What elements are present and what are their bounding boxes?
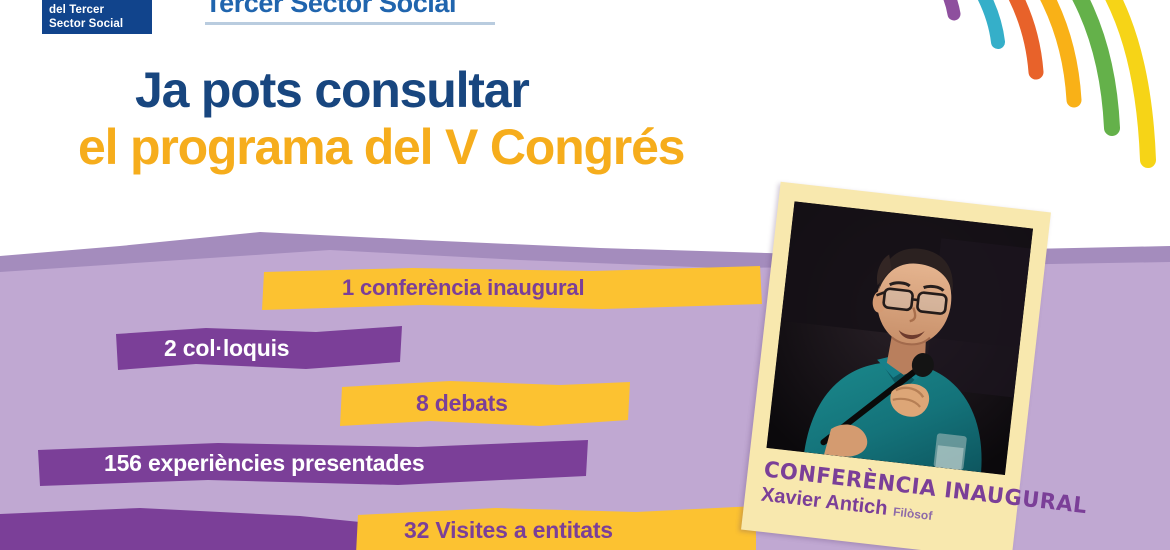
headline-line-2: el programa del V Congrés [0, 118, 900, 176]
stat-bar-colloquis[interactable]: 2 col·loquis [116, 326, 402, 370]
stat-bar-label: 2 col·loquis [164, 335, 289, 362]
speaker-photo-card[interactable]: Conferència inaugural Xavier AntichFilòs… [741, 182, 1051, 550]
stat-bar-label: 32 Visites a entitats [404, 517, 613, 544]
stat-bar-debats[interactable]: 8 debats [340, 380, 630, 426]
stat-bar-label: 1 conferència inaugural [342, 275, 584, 301]
logo-line-2: Sector Social [49, 17, 145, 31]
logo-line-1: del Tercer [49, 3, 145, 17]
poster-canvas: del Tercer Sector Social Tercer Sector S… [0, 0, 1170, 550]
headline-line-1: Ja pots consultar [0, 62, 900, 118]
brand-block: Tercer Sector Social [205, 0, 505, 25]
stat-bar-experiencies[interactable]: 156 experiències presentades [38, 440, 588, 486]
organization-logo: del Tercer Sector Social [42, 0, 152, 34]
headline-block: Ja pots consultar el programa del V Cong… [0, 62, 900, 176]
brand-underline [205, 22, 495, 25]
caption-speaker-role: Filòsof [892, 500, 934, 528]
stat-bar-conferencia[interactable]: 1 conferència inaugural [262, 266, 762, 310]
speaker-photo [766, 201, 1033, 475]
stat-bar-label: 8 debats [416, 390, 508, 417]
poster-header: del Tercer Sector Social Tercer Sector S… [0, 0, 1170, 232]
speaker-photo-illustration [766, 201, 1033, 475]
brand-title: Tercer Sector Social [205, 0, 505, 18]
stat-bar-visites[interactable]: 32 Visites a entitats [356, 506, 756, 550]
stat-bar-label: 156 experiències presentades [104, 450, 424, 477]
